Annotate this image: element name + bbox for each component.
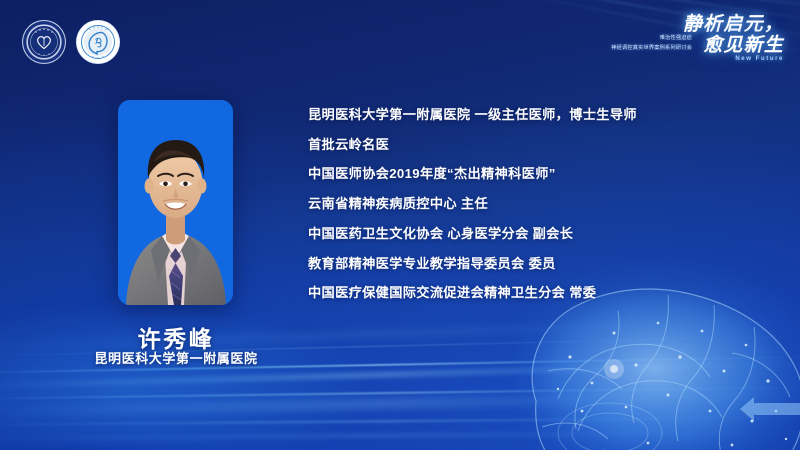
credential-line: 教育部精神医学专业教学指导委员会 委员 <box>308 257 778 270</box>
credential-line: 云南省精神疾病质控中心 主任 <box>308 197 778 210</box>
campaign-subtitle: 难治性强迫症 神经调控真实世界案例系列研讨会 <box>606 34 692 53</box>
credential-line: 中国医师协会2019年度“杰出精神科医师” <box>308 167 778 180</box>
organization-emblem-brain-icon <box>76 20 120 64</box>
campaign-title: 静析启元， 愈见新生 New Future <box>683 14 784 62</box>
organization-emblem-heart-icon <box>22 20 66 64</box>
header-logos <box>22 20 120 64</box>
speaker-organization: 昆明医科大学第一附属医院 <box>60 348 292 367</box>
campaign-title-line2: 愈见新生 <box>683 35 784 56</box>
credential-line: 首批云岭名医 <box>308 138 778 151</box>
speaker-photo <box>118 100 233 305</box>
campaign-title-line1: 静析启元， <box>683 14 784 35</box>
credentials-list: 昆明医科大学第一附属医院 一级主任医师，博士生导师 首批云岭名医 中国医师协会2… <box>308 108 778 316</box>
credential-line: 中国医药卫生文化协会 心身医学分会 副会长 <box>308 227 778 240</box>
presentation-slide: 难治性强迫症 神经调控真实世界案例系列研讨会 静析启元， 愈见新生 New Fu… <box>0 0 800 450</box>
credential-line: 昆明医科大学第一附属医院 一级主任医师，博士生导师 <box>308 108 778 121</box>
credential-line: 中国医疗保健国际交流促进会精神卫生分会 常委 <box>308 286 778 299</box>
campaign-lockup: 难治性强迫症 神经调控真实世界案例系列研讨会 静析启元， 愈见新生 New Fu… <box>606 8 786 66</box>
